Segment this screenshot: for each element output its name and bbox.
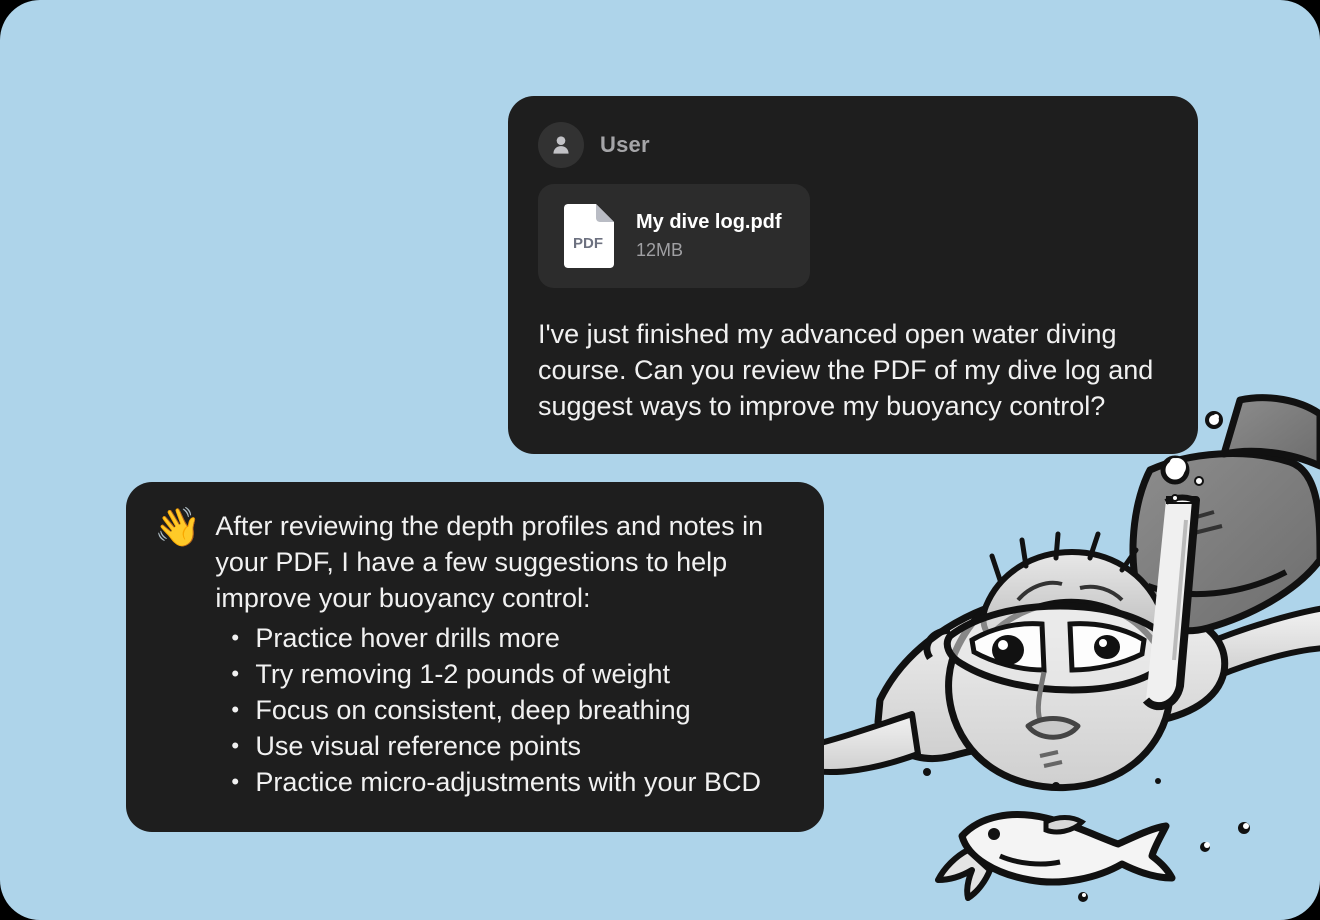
file-name: My dive log.pdf	[636, 211, 782, 234]
file-attachment-card[interactable]: PDF My dive log.pdf 12MB	[538, 184, 810, 288]
assistant-message-bubble: 👋 After reviewing the depth profiles and…	[126, 482, 824, 832]
assistant-message-row: 👋 After reviewing the depth profiles and…	[154, 508, 794, 800]
bubbles	[923, 387, 1250, 902]
user-message-bubble: User PDF My dive log.pdf 12MB I've just …	[508, 96, 1198, 454]
person-icon	[538, 122, 584, 168]
app-canvas: User PDF My dive log.pdf 12MB I've just …	[0, 0, 1320, 920]
suggestion-list: Practice hover drills more Try removing …	[215, 620, 794, 800]
assistant-intro-text: After reviewing the depth profiles and n…	[215, 508, 794, 616]
fish-illustration	[938, 815, 1172, 898]
list-item: Focus on consistent, deep breathing	[215, 692, 794, 728]
pdf-file-icon: PDF	[560, 202, 616, 270]
svg-text:PDF: PDF	[573, 235, 603, 252]
file-meta: My dive log.pdf 12MB	[636, 211, 782, 261]
list-item: Try removing 1-2 pounds of weight	[215, 656, 794, 692]
sender-label: User	[600, 132, 650, 158]
waving-hand-icon: 👋	[154, 508, 201, 548]
assistant-message-body: After reviewing the depth profiles and n…	[215, 508, 794, 800]
list-item: Practice hover drills more	[215, 620, 794, 656]
list-item: Practice micro-adjustments with your BCD	[215, 764, 794, 800]
user-message-header: User	[538, 122, 1168, 168]
file-size: 12MB	[636, 240, 782, 261]
user-message-text: I've just finished my advanced open wate…	[538, 316, 1168, 424]
list-item: Use visual reference points	[215, 728, 794, 764]
